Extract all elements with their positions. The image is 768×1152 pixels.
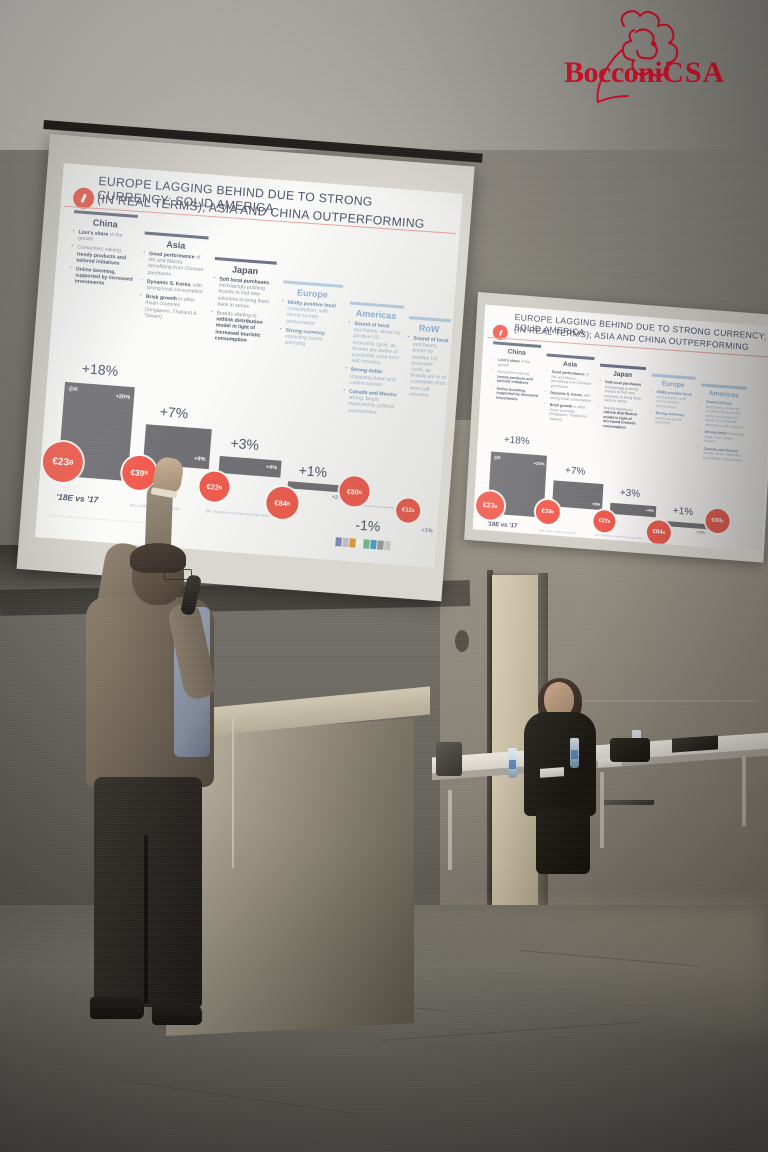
bar-label-europe: +2% xyxy=(303,492,343,501)
column-heading: Americas xyxy=(701,389,747,400)
partner-logo-strip xyxy=(335,537,391,550)
list-item: Sound of local purchases, driven by posi… xyxy=(345,320,402,367)
list-item: Brisk growth in other Asian countries (S… xyxy=(543,402,592,424)
growth-pct-europe: +1% xyxy=(284,461,341,481)
column-japan: Japan Soft local purchases increasingly … xyxy=(208,257,276,349)
list-item: Brands starting to rethink distribution … xyxy=(209,310,273,346)
slide-secondary: EUROPE LAGGING BEHIND DUE TO STRONG CURR… xyxy=(473,305,768,552)
watermark-text: BocconiCSA xyxy=(564,56,725,90)
column-rule xyxy=(652,374,696,380)
water-bottle xyxy=(508,748,517,778)
list-item: Mildly positive local consumption, with … xyxy=(280,299,342,328)
logo-block xyxy=(377,540,384,549)
column-bullets: Sound of local purchases, driven by posi… xyxy=(697,399,746,463)
column-americas: Americas Sound of local purchases, drive… xyxy=(697,383,747,466)
column-rule xyxy=(409,316,451,322)
column-europe: Europe Mildly positive local consumption… xyxy=(278,280,343,353)
list-item: Dynamic S. Korea, with strong local cons… xyxy=(544,390,592,403)
wall-fixture xyxy=(455,630,469,652)
growth-pct-japan: +3% xyxy=(607,486,653,501)
location-pin-icon xyxy=(80,194,86,203)
growth-pct-china: +18% xyxy=(490,433,544,448)
chair-empty xyxy=(436,742,462,776)
list-item: Brisk growth in other Asian countries (S… xyxy=(138,294,204,324)
presenter-shoe xyxy=(90,997,144,1019)
column-heading: Asia xyxy=(144,238,209,253)
column-americas: Americas Sound of local purchases, drive… xyxy=(341,302,404,421)
column-row: RoW Sound of local purchases, driven by … xyxy=(403,316,451,403)
water-bottle xyxy=(570,738,579,768)
list-item: Dynamic S. Korea, with strong local cons… xyxy=(140,278,205,295)
growth-pct-asia: +7% xyxy=(140,402,207,423)
column-europe: Europe Mildly positive local consumption… xyxy=(649,374,696,431)
column-heading: Japan xyxy=(214,263,277,278)
list-item: Mildly positive local consumption, with … xyxy=(650,390,695,411)
seated-panelist xyxy=(516,682,616,872)
column-heading: Americas xyxy=(349,307,404,321)
table-leg xyxy=(448,790,452,870)
projection-screen-secondary: EUROPE LAGGING BEHIND DUE TO STRONG CURR… xyxy=(478,292,768,542)
column-bullets: Mildly positive local consumption, with … xyxy=(649,390,695,428)
growth-pct-china: +18% xyxy=(64,359,137,380)
list-item: Strong dollar impacting Asian and LatAm … xyxy=(698,429,745,446)
list-item: Strong currency impacting tourist spendi… xyxy=(278,327,339,350)
bubble-last: €12B xyxy=(395,498,421,524)
list-item: Lion's share of the growth xyxy=(72,229,137,246)
logo-block xyxy=(335,537,342,546)
presenter-legs xyxy=(94,777,202,1007)
column-bullets: Sound of local purchases, driven by posi… xyxy=(403,335,450,400)
axis-label: '18E vs '17 xyxy=(56,492,99,505)
column-bullets: Lion's share of the growth Consumers val… xyxy=(69,229,137,289)
axis-label: '18E vs '17 xyxy=(487,521,517,529)
bar-europe xyxy=(288,481,346,492)
column-bullets: Good performance of HK and Macau, benefi… xyxy=(543,369,594,424)
watermark-logo: BocconiCSA xyxy=(536,8,768,108)
location-pin-icon xyxy=(498,329,502,335)
table-leg xyxy=(742,756,746,826)
logo-block xyxy=(342,538,349,547)
column-heading: RoW xyxy=(408,322,451,335)
growth-pct-europe: +1% xyxy=(662,505,704,519)
slide-disclaimer: This information is confidential and was… xyxy=(47,515,346,541)
list-item: Strong dollar impacting Asian and LatAm … xyxy=(344,367,399,390)
list-item: Consumers valuing trendy products and ta… xyxy=(491,369,540,386)
list-item: Soft local purchases increasingly pushin… xyxy=(598,380,645,406)
slide-main: EUROPE LAGGING BEHIND DUE TO STRONG CURR… xyxy=(35,163,463,568)
column-heading: China xyxy=(493,347,541,358)
list-item: Sound of local purchases, driven by posi… xyxy=(403,335,450,400)
logo-block xyxy=(384,541,391,550)
name-placard xyxy=(540,767,564,778)
bar-label-europe: +2% xyxy=(675,528,705,535)
column-heading: Europe xyxy=(651,380,695,390)
column-heading: Asia xyxy=(546,359,594,370)
presenter-leg-gap xyxy=(144,835,148,1003)
bubble-americas: €84B xyxy=(265,486,299,520)
footnote-note: Note: RoW = Rest of the World xyxy=(539,529,576,535)
logo-block xyxy=(363,539,370,548)
column-bullets: Good performance of HK and Macau, benefi… xyxy=(138,251,207,324)
list-item: Canada and Mexico strong, Brazil impacte… xyxy=(697,446,744,463)
column-bullets: Mildly positive local consumption, with … xyxy=(278,299,341,350)
column-bullets: Soft local purchases increasingly pushin… xyxy=(209,276,276,346)
atk-label: @K xyxy=(68,386,78,393)
list-item: Consumers valuing trendy products and ta… xyxy=(70,244,135,267)
column-asia: Asia Good performance of HK and Macau, b… xyxy=(543,353,595,427)
panelist-legs xyxy=(536,808,590,874)
growth-pct-japan: +3% xyxy=(214,434,275,455)
column-japan: Japan Soft local purchases increasingly … xyxy=(596,364,646,435)
column-china: China Lion's share of the growth Consume… xyxy=(68,210,138,292)
column-heading: China xyxy=(73,216,138,231)
logo-block xyxy=(370,540,377,549)
projection-screen-main: EUROPE LAGGING BEHIND DUE TO STRONG CURR… xyxy=(44,120,484,590)
panelist-body xyxy=(524,712,596,816)
logo-block xyxy=(356,539,363,548)
list-item: Sound of local purchases, driven by posi… xyxy=(699,399,746,430)
list-item: Soft local purchases increasingly pushin… xyxy=(211,276,275,312)
atk-label: @K xyxy=(494,455,501,461)
column-bullets: Lion's share of the growth Consumers val… xyxy=(490,357,540,403)
column-bullets: Soft local purchases increasingly pushin… xyxy=(597,380,646,432)
footnote-atk: @K: Growth at constant exchange rates xyxy=(595,534,643,541)
column-heading: Europe xyxy=(282,286,343,301)
list-item: Strong currency impacting tourist spendi… xyxy=(649,411,694,428)
bubble-row: €80B xyxy=(705,508,730,534)
list-item: Good performance of HK and Macau, benefi… xyxy=(141,251,207,281)
column-bullets: Sound of local purchases, driven by posi… xyxy=(341,320,402,417)
list-item: Lion's share of the growth xyxy=(492,357,540,370)
list-item: Brands starting to rethink distribution … xyxy=(597,405,644,431)
column-china: China Lion's share of the growth Consume… xyxy=(490,341,541,406)
presenter-shoe xyxy=(152,1003,202,1025)
list-item: Good performance of HK and Macau, benefi… xyxy=(545,369,594,391)
logo-block xyxy=(349,538,356,547)
list-item: Canada and Mexico strong, Brazil impacte… xyxy=(341,388,397,417)
list-item: Online booming, supported by increased i… xyxy=(490,386,539,403)
growth-pct-asia: +7% xyxy=(550,464,600,479)
conference-photo-scene: EUROPE LAGGING BEHIND DUE TO STRONG CURR… xyxy=(0,0,768,1152)
footnote-atk: @K: Growth at constant exchange rates xyxy=(205,509,269,518)
column-asia: Asia Good performance of HK and Macau, b… xyxy=(138,232,209,327)
bar-label-row: +1% xyxy=(404,526,432,534)
bubble-row: €80B xyxy=(338,475,370,507)
bubble-japan: €22B xyxy=(593,509,616,533)
growth-pct-americas: -1% xyxy=(342,516,393,536)
presenter-with-microphone xyxy=(68,545,243,1055)
handbag xyxy=(610,738,650,762)
column-heading: Japan xyxy=(599,370,645,381)
bubble-japan: €22B xyxy=(198,471,230,503)
list-item: Online booming, supported by increased i… xyxy=(69,266,134,289)
